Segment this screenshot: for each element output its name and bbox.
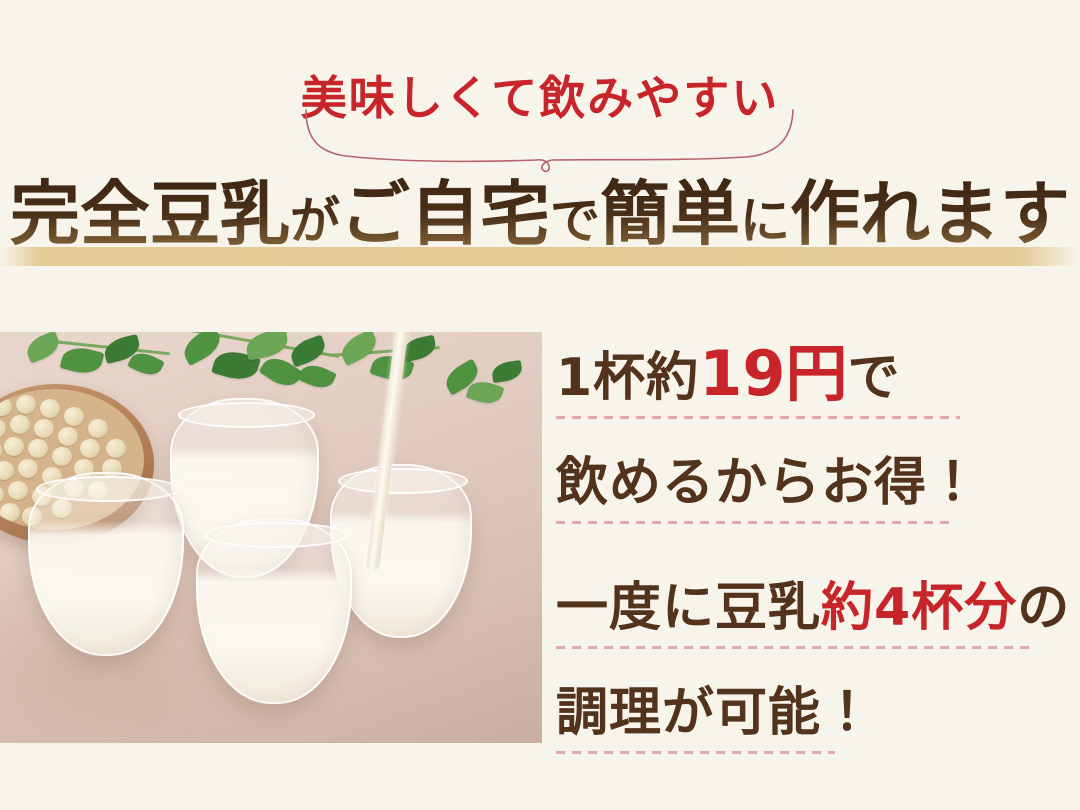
benefit-price-line-1: 1杯約19円で [556, 338, 980, 414]
headline-seg-6: に [740, 193, 790, 249]
benefit-capacity-underline-2 [556, 751, 835, 754]
benefit-capacity-pre: 一度に豆乳 [556, 578, 821, 638]
benefit-price-pre: 1杯約 [556, 348, 699, 408]
benefit-capacity-line-1: 一度に豆乳約4杯分の [556, 572, 1070, 644]
headline-seg-5: 簡単 [600, 177, 740, 254]
headline-seg-7: 作れます [790, 177, 1070, 254]
headline-seg-4: で [550, 193, 600, 249]
headline-seg-1: 完全豆乳 [10, 177, 290, 254]
benefit-capacity-post: の [1017, 578, 1070, 638]
benefit-capacity-underline-1 [556, 646, 1030, 649]
benefit-price-underline-1 [556, 416, 960, 419]
curly-brace-decoration [300, 108, 800, 174]
benefit-capacity: 一度に豆乳約4杯分の 調理が可能！ [556, 572, 1070, 754]
benefit-price-line-2: 飲めるからお得！ [556, 447, 980, 519]
benefit-capacity-highlight: 約4杯分 [821, 578, 1017, 638]
headline-seg-2: が [290, 193, 340, 249]
headline-block: 完全豆乳がご自宅で簡単に作れます [0, 168, 1080, 272]
glass-rim [178, 402, 315, 428]
product-photo [0, 332, 542, 743]
glass-rim [36, 476, 180, 502]
benefit-capacity-line-2: 調理が可能！ [556, 677, 1070, 749]
glass-rim [338, 468, 469, 494]
glass-rim [204, 522, 348, 548]
benefit-price-highlight: 19円 [699, 337, 847, 410]
benefit-price-underline-2 [556, 521, 953, 524]
promo-page: 美味しくて飲みやすい 完全豆乳がご自宅で簡単に作れます [0, 0, 1080, 810]
benefit-price: 1杯約19円で 飲めるからお得！ [556, 338, 980, 524]
benefit-price-post: で [847, 348, 900, 408]
curly-brace-icon [300, 108, 800, 174]
headline-seg-3: ご自宅 [340, 177, 550, 254]
page-title: 完全豆乳がご自宅で簡単に作れます [0, 168, 1080, 269]
